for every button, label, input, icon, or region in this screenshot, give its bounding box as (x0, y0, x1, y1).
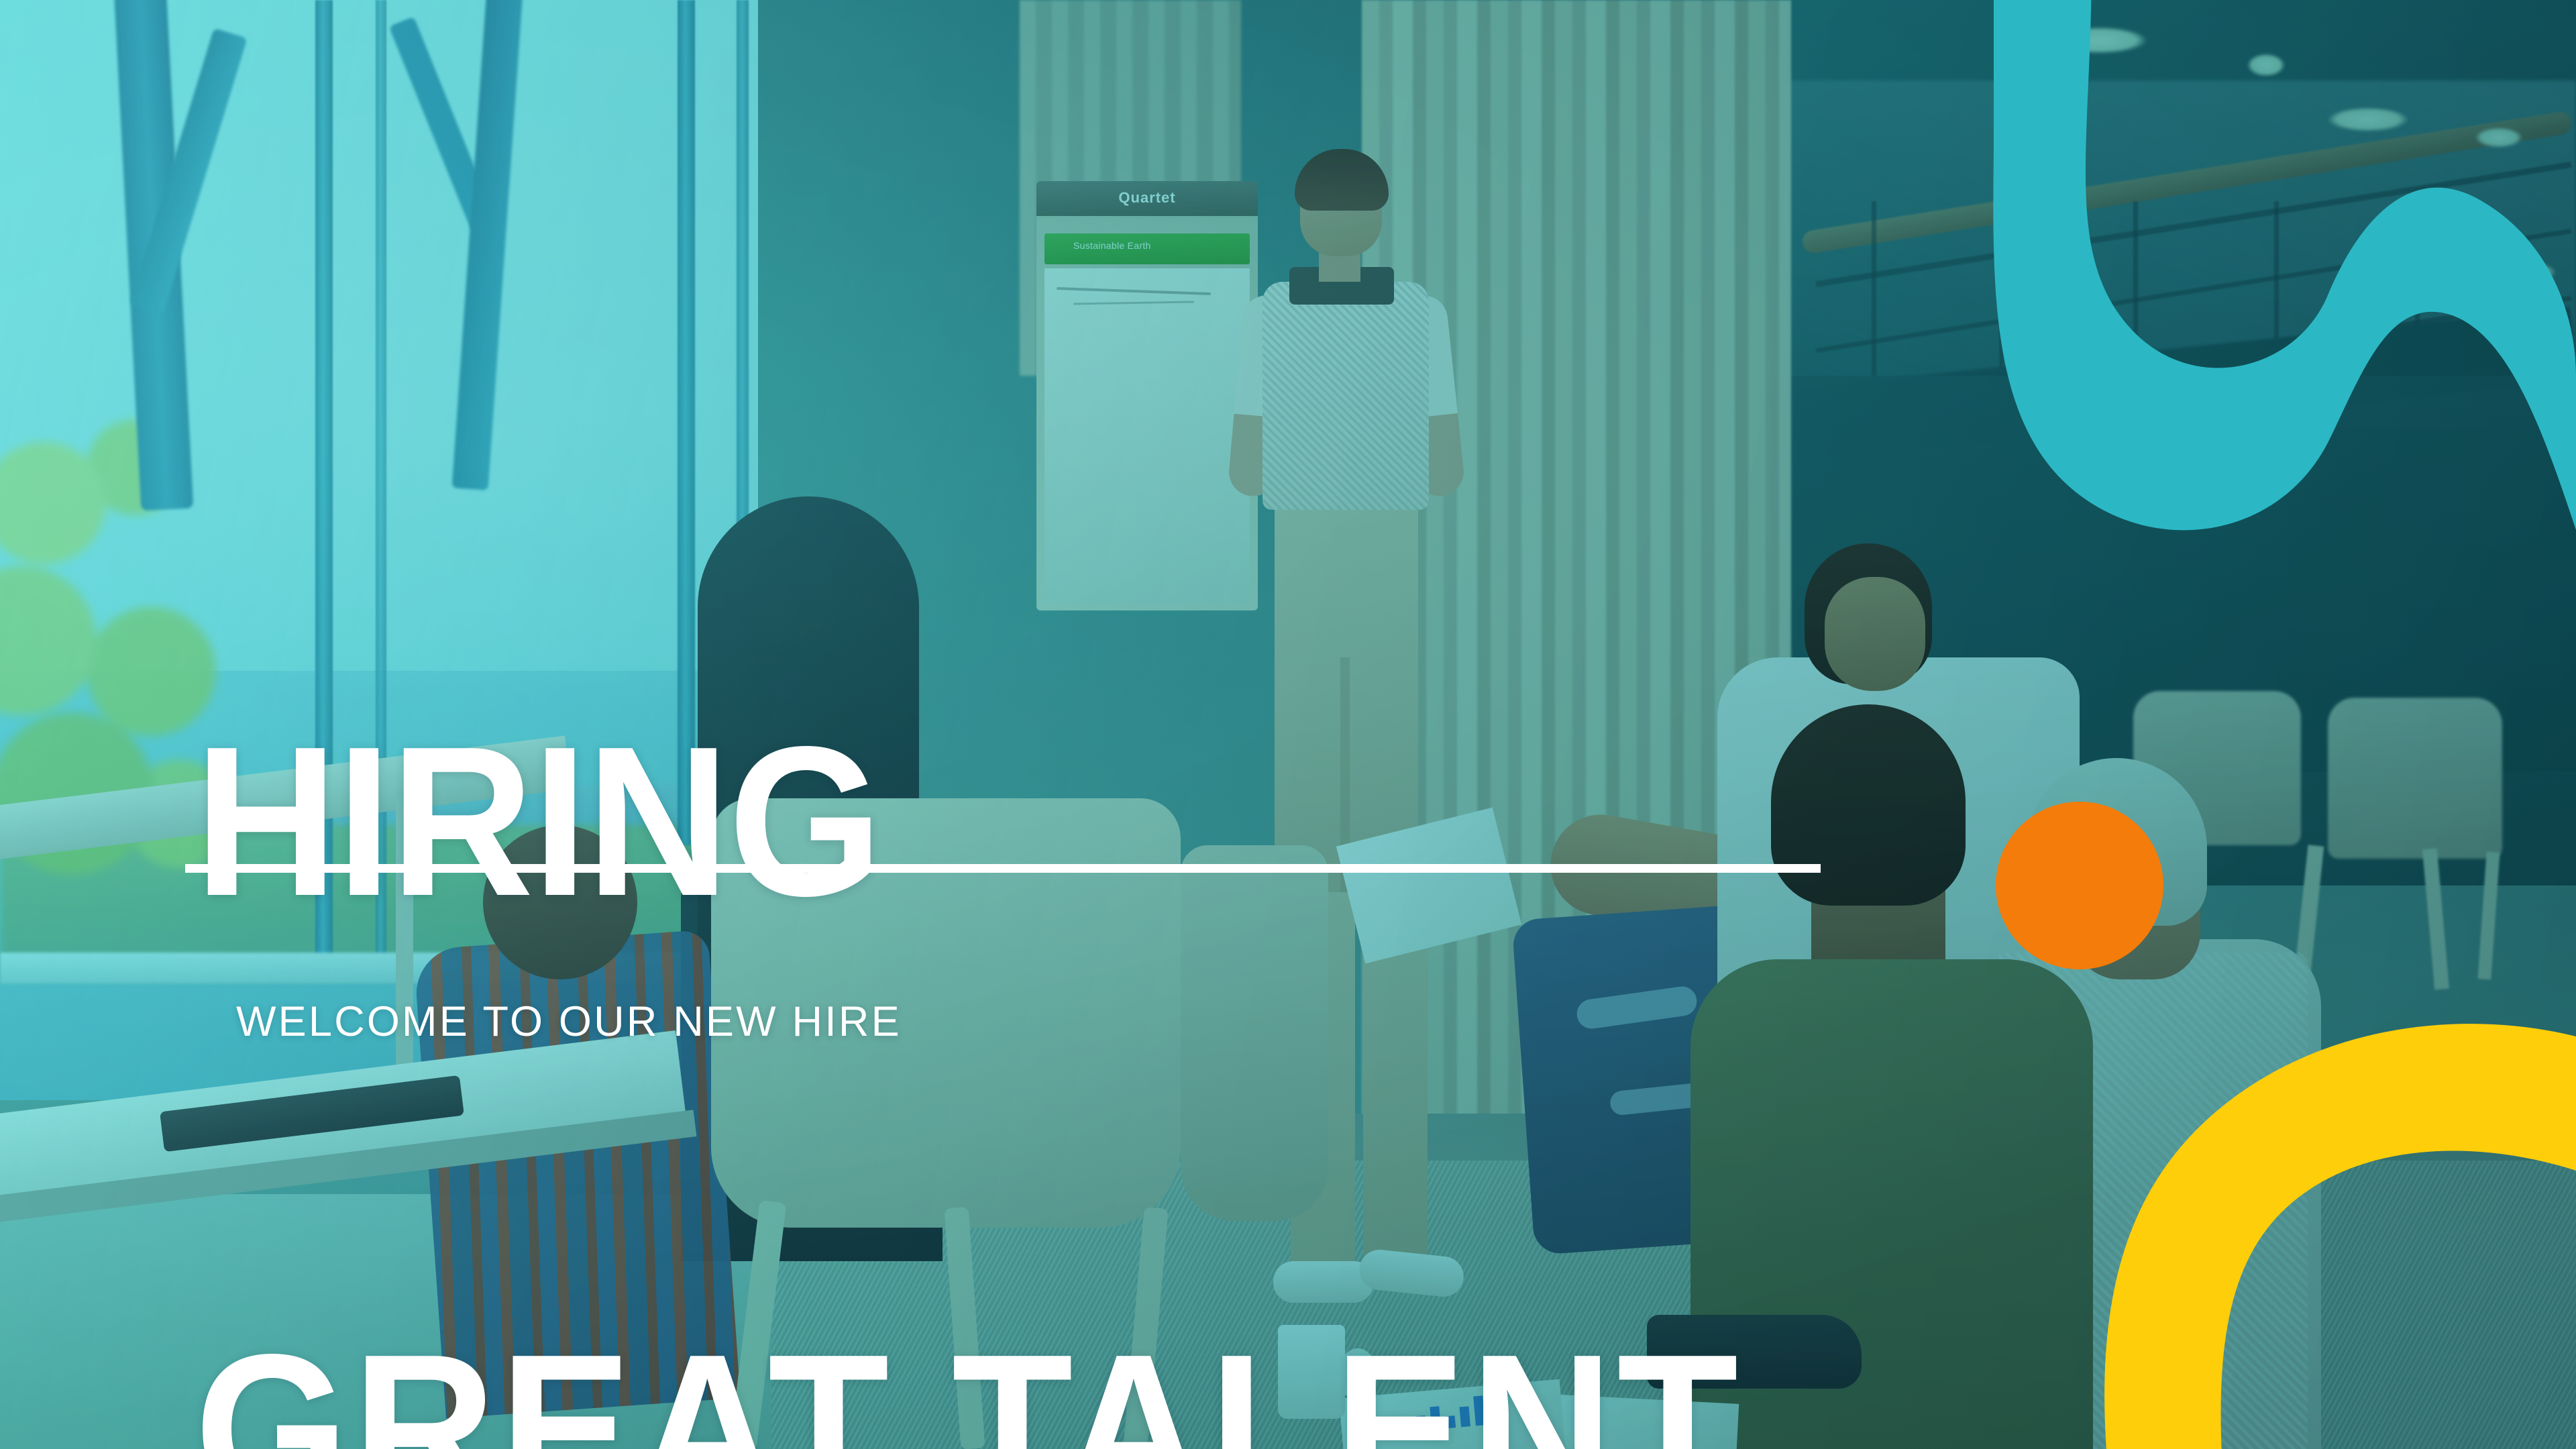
page-title: HIRING GREAT TALENT (195, 315, 1742, 1449)
headline-line-1: HIRING (195, 720, 1742, 923)
hiring-banner: Sustainable Earth Quartet (0, 0, 2576, 1449)
headline-line-2: GREAT TALENT (195, 1328, 1742, 1449)
subtitle: WELCOME TO OUR NEW HIRE (236, 998, 902, 1046)
horizontal-divider (185, 864, 1821, 873)
